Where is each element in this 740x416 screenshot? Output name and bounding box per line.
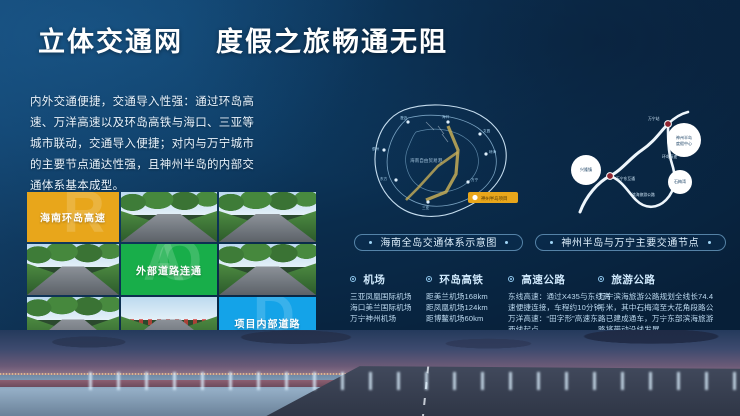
foliage-icon (27, 297, 119, 324)
info-head-airport: 机场 (350, 272, 422, 287)
svg-text:神州半岛: 神州半岛 (676, 134, 692, 140)
info-line: 海口美兰国际机场 (350, 302, 422, 313)
info-head-tourist-road: 旅游公路 (598, 272, 714, 287)
title-line: 立体交通网 度假之旅畅通无阻 (38, 20, 448, 59)
svg-text:兴隆镇: 兴隆镇 (580, 166, 592, 172)
info-line: 距凤凰机场124km (426, 302, 506, 313)
street-lamps (89, 372, 740, 390)
info-head-expressway: 高速公路 (508, 272, 594, 287)
svg-text:东方: 东方 (380, 176, 388, 181)
node-map-svg: 兴隆镇 神州半岛 度假中心 石梅湾 万宁站 万宁东互通 环岛高速 滨海旅游公路 (556, 96, 720, 228)
info-line: 三亚凤凰国际机场 (350, 291, 422, 302)
caption-dot-right-icon (505, 241, 508, 244)
svg-text:琼海: 琼海 (489, 149, 497, 154)
info-line: 东线高速：通过X435与东线高 (508, 291, 594, 302)
info-line: 万洋高速：“田字形”高速东、 (508, 313, 594, 324)
tile-label-external: 外部道路连通 (121, 262, 217, 277)
info-body-rail: 距美兰机场168km 距凤凰机场124km 距博鳌机场60km (426, 291, 506, 324)
svg-text:澄迈: 澄迈 (400, 115, 408, 120)
info-column-airport: 机场 三亚凤凰国际机场 海口美兰国际机场 万宁神州机场 (350, 272, 422, 324)
info-head-airport-label: 机场 (363, 274, 385, 286)
svg-text:滨海旅游公路: 滨海旅游公路 (632, 192, 655, 197)
wanning-node-map[interactable]: 兴隆镇 神州半岛 度假中心 石梅湾 万宁站 万宁东互通 环岛高速 滨海旅游公路 (556, 96, 720, 228)
svg-text:三亚: 三亚 (422, 206, 430, 210)
cloud-band (0, 330, 740, 370)
svg-text:儋州: 儋州 (372, 146, 380, 151)
info-column-expressway: 高速公路 东线高速：通过X435与东线高 速便捷连接，车程约10分钟； 万洋高速… (508, 272, 594, 335)
svg-text:石梅湾: 石梅湾 (674, 178, 686, 184)
collage-photo-road-3 (27, 244, 119, 295)
caption-island-map: 海南全岛交通体系示意图 (354, 234, 523, 251)
info-line: 万宁滨海旅游公路规划全线长74.4千米，其中石梅湾至大花角段路公路已建成通车，万… (598, 291, 714, 335)
project-marker[interactable]: 神州半岛项目 (468, 192, 518, 203)
caption-node-text: 神州半岛与万宁主要交通节点 (561, 238, 699, 249)
svg-text:度假中心: 度假中心 (676, 140, 692, 146)
intro-paragraph: 内外交通便捷，交通导入性强：通过环岛高速、万洋高速以及环岛高铁与海口、三亚等城市… (30, 92, 262, 197)
caption-node-map: 神州半岛与万宁主要交通节点 (535, 234, 726, 251)
info-line: 万宁神州机场 (350, 313, 422, 324)
collage-photo-road-4 (219, 244, 316, 295)
circle-bullet-icon (598, 276, 604, 282)
lane-marking (267, 216, 269, 242)
caption-dot-left-icon (369, 241, 372, 244)
lane-marking (267, 268, 269, 295)
info-body-airport: 三亚凤凰国际机场 海口美兰国际机场 万宁神州机场 (350, 291, 422, 324)
photo-collage: R 海南环岛高速 O A 外部道路连通 (27, 192, 312, 344)
title-main: 立体交通网 (38, 27, 183, 57)
slide-root: 立体交通网 度假之旅畅通无阻 内外交通便捷，交通导入性强：通过环岛高速、万洋高速… (0, 0, 740, 416)
info-column-tourist-road: 旅游公路 万宁滨海旅游公路规划全线长74.4千米，其中石梅湾至大花角段路公路已建… (598, 272, 714, 335)
svg-text:环岛高速: 环岛高速 (662, 154, 677, 159)
caption-dot-left-icon (550, 241, 553, 244)
svg-text:万宁东互通: 万宁东互通 (616, 176, 635, 181)
caption-island-text: 海南全岛交通体系示意图 (380, 238, 497, 249)
collage-photo-road-1 (121, 192, 217, 242)
title-sub: 度假之旅畅通无阻 (216, 27, 448, 57)
page-title: 立体交通网 度假之旅畅通无阻 (38, 20, 448, 59)
foliage-icon (27, 244, 119, 271)
circle-bullet-icon (426, 276, 432, 282)
rail-dashes (426, 122, 448, 142)
info-body-tourist-road: 万宁滨海旅游公路规划全线长74.4千米，其中石梅湾至大花角段路公路已建成通车，万… (598, 291, 714, 335)
interchange-node-north[interactable] (665, 121, 672, 128)
info-head-rail-label: 环岛高铁 (439, 274, 483, 286)
svg-text:神州半岛项目: 神州半岛项目 (481, 195, 507, 202)
svg-text:海口: 海口 (442, 114, 450, 119)
info-body-expressway: 东线高速：通过X435与东线高 速便捷连接，车程约10分钟； 万洋高速：“田字形… (508, 291, 594, 335)
info-line: 距美兰机场168km (426, 291, 506, 302)
info-head-expressway-label: 高速公路 (521, 274, 565, 286)
caption-dot-right-icon (708, 241, 711, 244)
collage-photo-road-2 (219, 192, 316, 242)
circle-bullet-icon (350, 276, 356, 282)
collage-tile-highway-label: R 海南环岛高速 (27, 192, 119, 242)
svg-text:万宁站: 万宁站 (648, 116, 660, 121)
collage-tile-external-label: O A 外部道路连通 (121, 244, 217, 295)
tile-label-internal: 项目内部道路 (219, 315, 316, 330)
lane-marking (72, 268, 74, 295)
lane-marking (168, 216, 170, 242)
info-line: 距博鳌机场60km (426, 313, 506, 324)
svg-text:文昌: 文昌 (483, 128, 491, 133)
foliage-icon (219, 244, 316, 271)
foliage-icon (219, 192, 316, 218)
circle-bullet-icon (508, 276, 514, 282)
tile-label-highway: 海南环岛高速 (27, 210, 119, 225)
info-head-rail: 环岛高铁 (426, 272, 506, 287)
info-line: 速便捷连接，车程约10分钟； (508, 302, 594, 313)
info-head-tourist-road-label: 旅游公路 (611, 274, 655, 286)
interchange-node-west[interactable] (607, 173, 614, 180)
island-area-label: 海南自由贸易港 (410, 157, 443, 164)
hainan-island-map[interactable]: 海口 文昌 琼海 万宁 三亚 东方 儋州 澄迈 海南自由贸易港 神州半岛项目 (356, 96, 532, 228)
foliage-icon (121, 192, 217, 218)
island-map-svg: 海口 文昌 琼海 万宁 三亚 东方 儋州 澄迈 海南自由贸易港 神州半岛项目 (356, 96, 532, 228)
night-skyline-photo (0, 330, 740, 416)
info-column-highspeed-rail: 环岛高铁 距美兰机场168km 距凤凰机场124km 距博鳌机场60km (426, 272, 506, 324)
svg-text:万宁: 万宁 (471, 177, 479, 182)
